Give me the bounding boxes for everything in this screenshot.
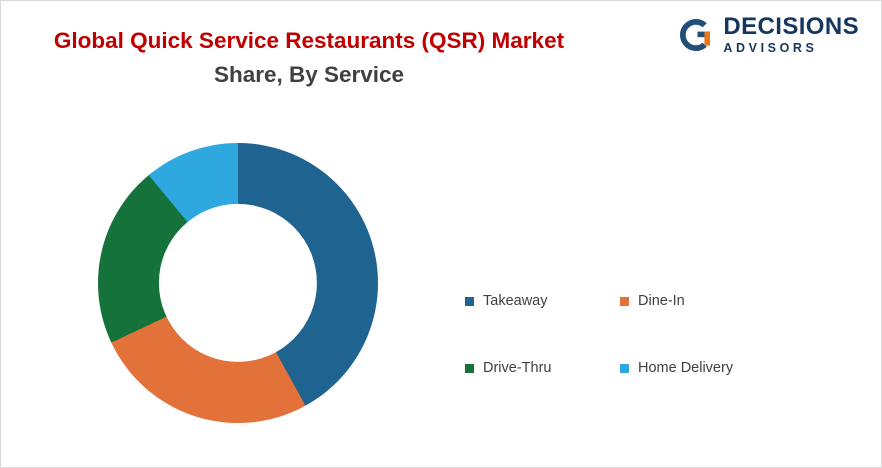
legend-item-takeaway[interactable]: Takeaway — [465, 293, 620, 309]
legend-item-home-delivery[interactable]: Home Delivery — [620, 360, 775, 376]
legend-label: Home Delivery — [638, 360, 733, 376]
legend-swatch-icon — [620, 297, 629, 306]
legend-item-dine-in[interactable]: Dine-In — [620, 293, 775, 309]
legend-swatch-icon — [620, 364, 629, 373]
legend-label: Takeaway — [483, 293, 547, 309]
legend-row: Takeaway Dine-In — [465, 293, 805, 309]
chart-title-line-2: Share, By Service — [1, 61, 617, 89]
legend-row: Drive-Thru Home Delivery — [465, 360, 805, 376]
logo-name-primary: DECISIONS — [723, 15, 859, 39]
legend-label: Dine-In — [638, 293, 685, 309]
legend-label: Drive-Thru — [483, 360, 551, 376]
logo-name-secondary: ADVISORS — [723, 42, 859, 55]
chart-title-line-1: Global Quick Service Restaurants (QSR) M… — [1, 27, 617, 55]
donut-center-hole — [159, 204, 317, 362]
logo-wordmark: DECISIONS ADVISORS — [723, 15, 859, 55]
donut-chart — [98, 143, 378, 423]
legend-swatch-icon — [465, 364, 474, 373]
brand-logo: DECISIONS ADVISORS — [678, 15, 859, 55]
legend-swatch-icon — [465, 297, 474, 306]
legend-item-drive-thru[interactable]: Drive-Thru — [465, 360, 620, 376]
chart-legend: Takeaway Dine-In Drive-Thru Home Deliver… — [465, 293, 805, 376]
chart-page: DECISIONS ADVISORS Global Quick Service … — [0, 0, 882, 468]
logo-mark-icon — [678, 17, 714, 53]
chart-title: Global Quick Service Restaurants (QSR) M… — [1, 27, 617, 89]
